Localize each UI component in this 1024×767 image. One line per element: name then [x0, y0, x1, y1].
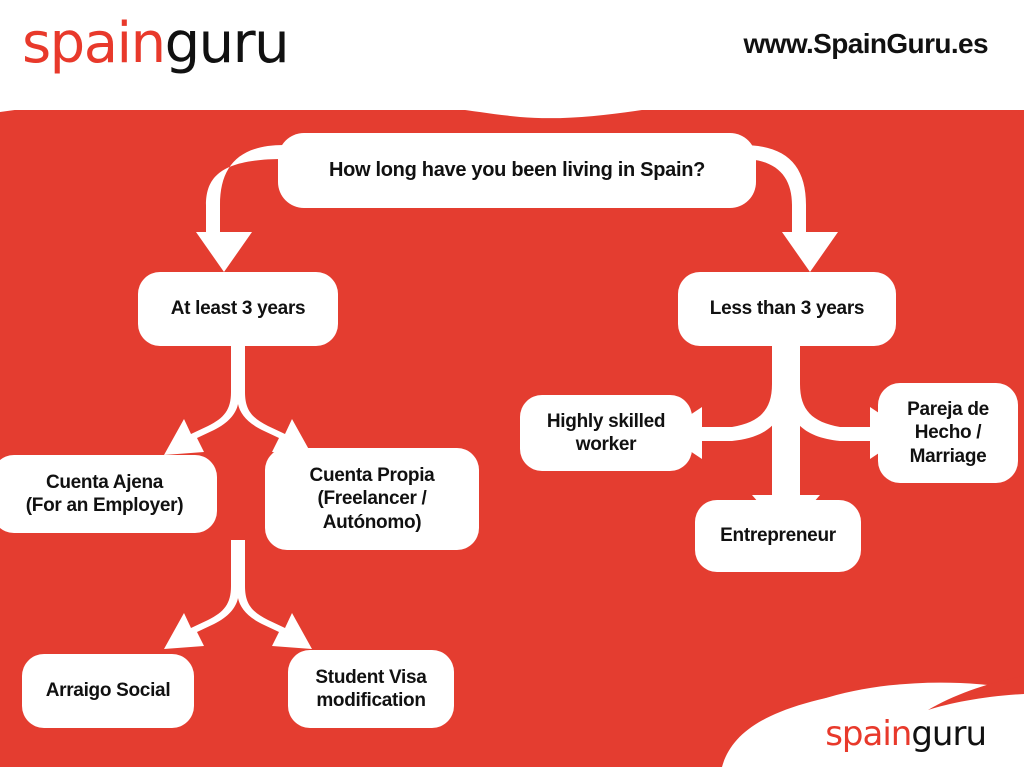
node-at-least-3-years[interactable]: At least 3 years [138, 272, 338, 346]
node-cuenta-propia-line3: Autónomo) [323, 512, 422, 533]
node-highly-skilled-line1: Highly skilled [547, 411, 665, 432]
flowchart-infographic: spainguru www.SpainGuru.es How long have… [0, 0, 1024, 767]
node-cuenta-propia[interactable]: Cuenta Propia (Freelancer / Autónomo) [265, 448, 479, 550]
node-highly-skilled-text: Highly skilled worker [547, 410, 665, 456]
logo-text-spain: spain [22, 11, 165, 76]
node-student-visa-line1: Student Visa [315, 667, 426, 688]
node-at-least-3-years-label: At least 3 years [171, 297, 306, 320]
node-pareja-de-hecho-marriage[interactable]: Pareja de Hecho / Marriage [878, 383, 1018, 483]
footer-logo-text-guru: guru [911, 714, 986, 754]
node-arraigo-social-label: Arraigo Social [46, 679, 171, 702]
node-cuenta-propia-line1: Cuenta Propia [310, 465, 435, 486]
node-pareja-line2: Hecho / [915, 422, 982, 443]
footer-logo-text-spain: spain [825, 714, 911, 754]
node-highly-skilled-line2: worker [576, 434, 637, 455]
node-student-visa-text: Student Visa modification [315, 666, 426, 712]
node-student-visa-modification[interactable]: Student Visa modification [288, 650, 454, 728]
node-root-question-label: How long have you been living in Spain? [329, 158, 705, 182]
node-pareja-line1: Pareja de [907, 399, 989, 420]
node-cuenta-ajena[interactable]: Cuenta Ajena (For an Employer) [0, 455, 217, 533]
node-cuenta-ajena-line1: Cuenta Ajena [46, 472, 163, 493]
node-cuenta-ajena-text: Cuenta Ajena (For an Employer) [26, 471, 183, 517]
node-cuenta-ajena-line2: (For an Employer) [26, 495, 183, 516]
spainguru-logo: spainguru [22, 16, 288, 72]
node-less-than-3-years-label: Less than 3 years [710, 297, 864, 320]
node-pareja-text: Pareja de Hecho / Marriage [907, 398, 989, 468]
node-student-visa-line2: modification [316, 690, 425, 711]
node-cuenta-propia-line2: (Freelancer / [317, 488, 426, 509]
node-entrepreneur-label: Entrepreneur [720, 524, 836, 547]
logo-text-guru: guru [165, 11, 289, 76]
node-arraigo-social[interactable]: Arraigo Social [22, 654, 194, 728]
footer-spainguru-logo: spainguru [825, 717, 986, 751]
header-bar: spainguru www.SpainGuru.es [0, 0, 1024, 110]
node-highly-skilled-worker[interactable]: Highly skilled worker [520, 395, 692, 471]
node-entrepreneur[interactable]: Entrepreneur [695, 500, 861, 572]
site-url-text: www.SpainGuru.es [743, 28, 988, 60]
node-layer: How long have you been living in Spain? … [0, 0, 1024, 767]
node-pareja-line3: Marriage [910, 446, 987, 467]
node-less-than-3-years[interactable]: Less than 3 years [678, 272, 896, 346]
node-root-question[interactable]: How long have you been living in Spain? [278, 133, 756, 208]
node-cuenta-propia-text: Cuenta Propia (Freelancer / Autónomo) [310, 464, 435, 534]
